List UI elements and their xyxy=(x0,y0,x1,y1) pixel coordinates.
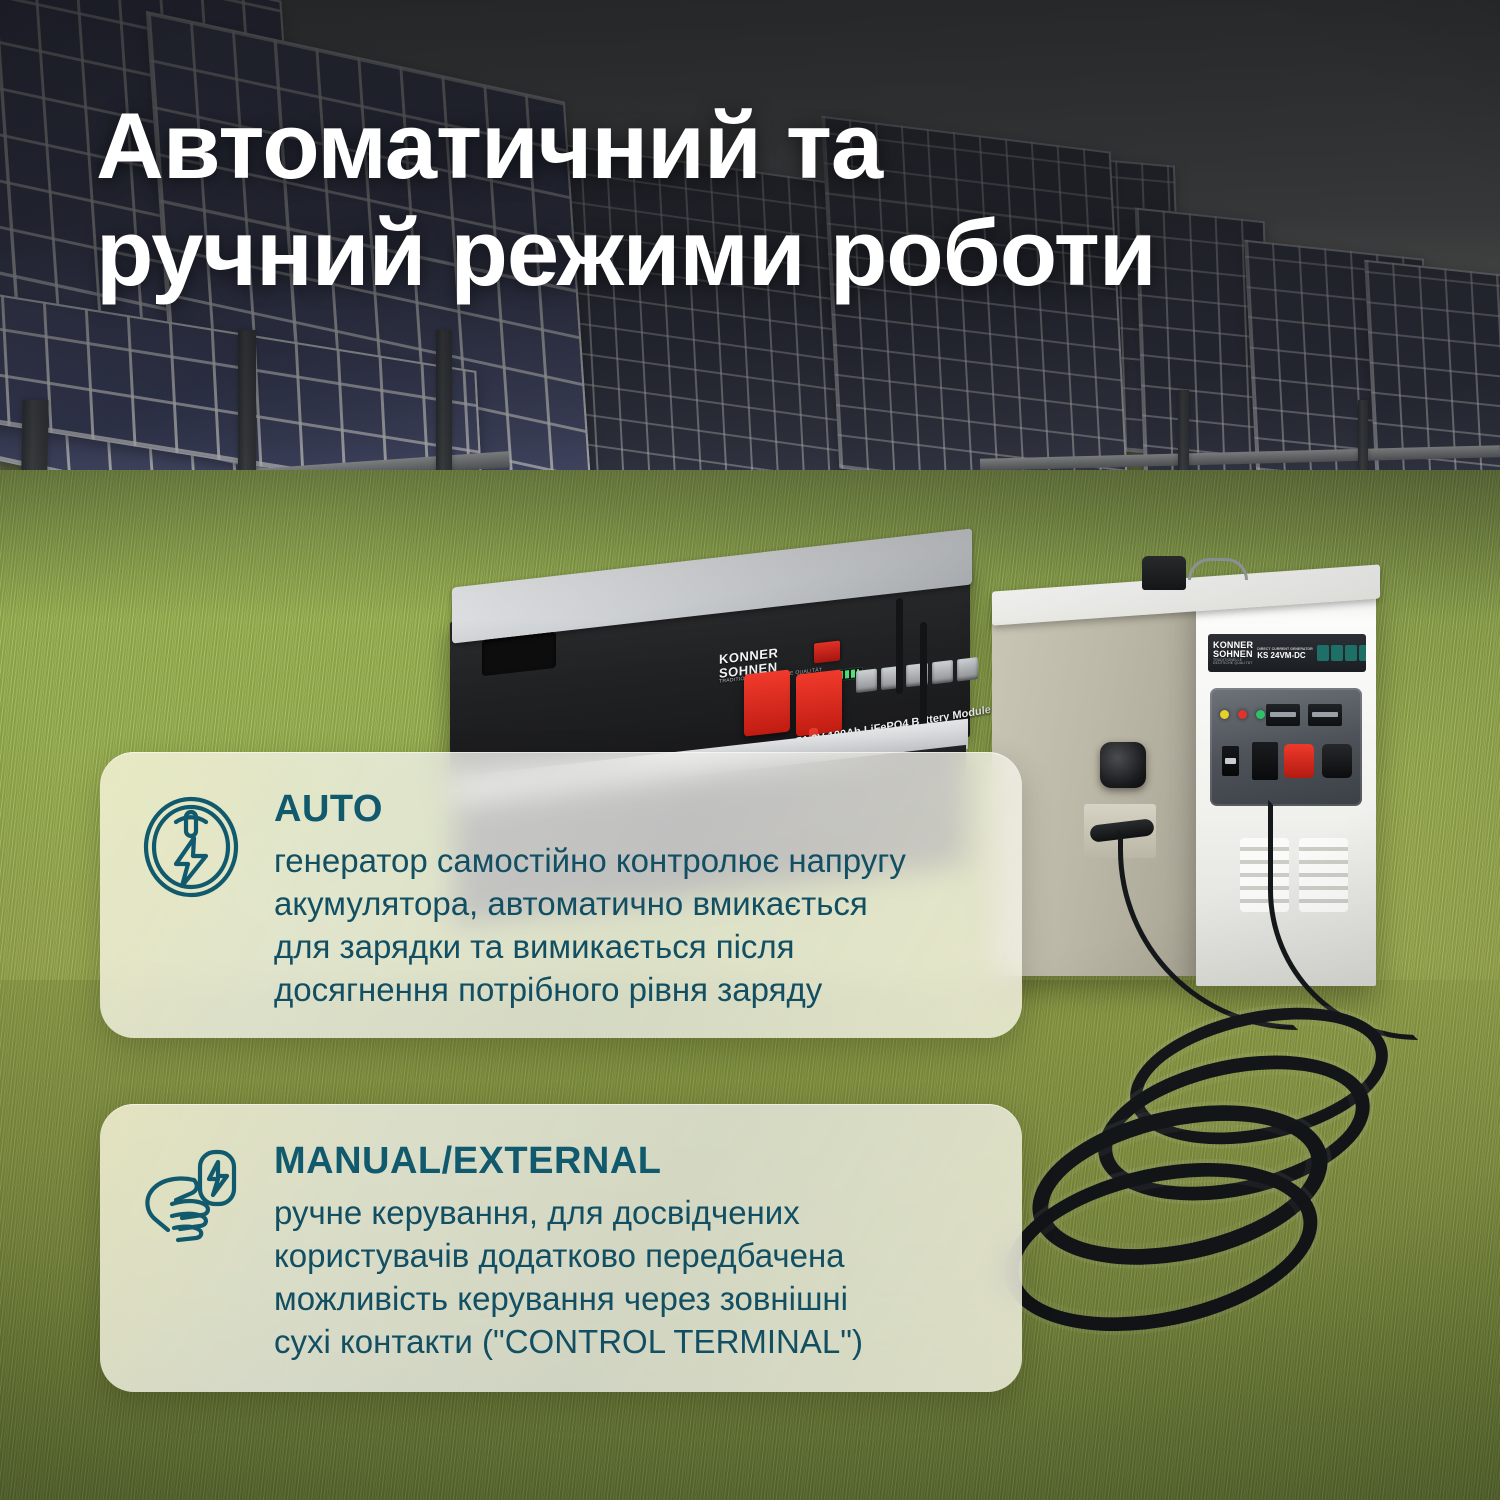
manual-text-line-2: користувачів додатково передбачена xyxy=(274,1235,978,1278)
manual-text-line-4: сухі контакти ("CONTROL TERMINAL") xyxy=(274,1321,978,1364)
manual-text-line-3: можливість керування через зовнішні xyxy=(274,1278,978,1321)
mode-card-manual-title: MANUAL/EXTERNAL xyxy=(274,1142,978,1180)
infographic-stage: KONNER SOHNEN TRADITIONELLE DEUTSCHE QUA… xyxy=(0,0,1500,1500)
mode-card-auto-title: AUTO xyxy=(274,790,978,828)
mode-card-manual: MANUAL/EXTERNAL ручне керування, для дос… xyxy=(100,1104,1022,1392)
mode-card-manual-text: ручне керування, для досвідчених користу… xyxy=(274,1192,978,1364)
hand-press-button-icon xyxy=(138,1146,244,1252)
auto-text-line-3: для зарядки та вимикається після xyxy=(274,926,978,969)
mode-card-auto-text: генератор самостійно контролює напругу а… xyxy=(274,840,978,1012)
power-bolt-icon xyxy=(138,794,244,900)
page-title: Автоматичний та ручний режими роботи xyxy=(96,92,1416,306)
headline-line-2: ручний режими роботи xyxy=(96,199,1416,306)
manual-text-line-1: ручне керування, для досвідчених xyxy=(274,1192,978,1235)
headline-line-1: Автоматичний та xyxy=(96,93,882,198)
auto-text-line-4: досягнення потрібного рівня заряду xyxy=(274,969,978,1012)
mode-card-auto-body: AUTO генератор самостійно контролює напр… xyxy=(274,790,978,1012)
auto-text-line-1: генератор самостійно контролює напругу xyxy=(274,840,978,883)
mode-card-auto: AUTO генератор самостійно контролює напр… xyxy=(100,752,1022,1038)
mode-card-manual-body: MANUAL/EXTERNAL ручне керування, для дос… xyxy=(274,1142,978,1364)
auto-text-line-2: акумулятора, автоматично вмикається xyxy=(274,883,978,926)
